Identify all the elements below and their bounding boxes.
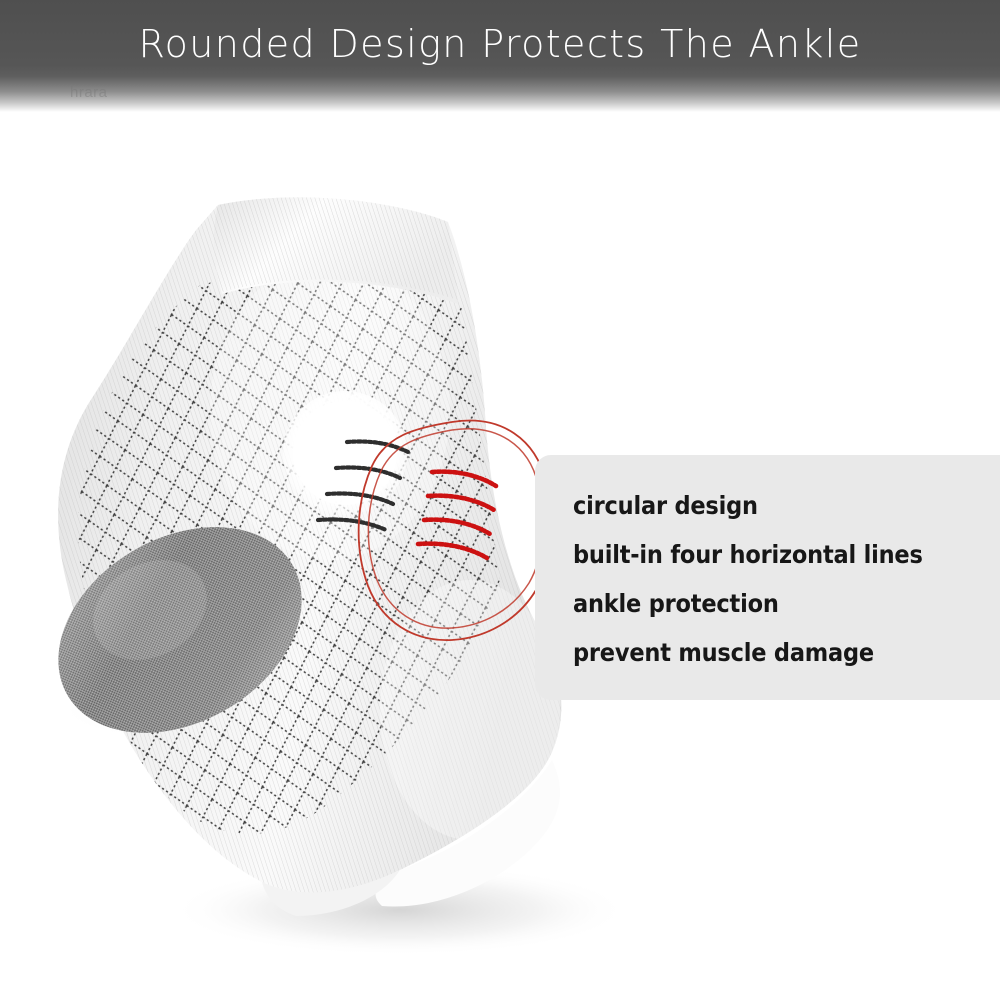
circular-support-zone [283, 391, 407, 515]
feature-callout-box: circular design built-in four horizontal… [535, 455, 1000, 700]
page-title: Rounded Design Protects The Ankle [0, 22, 1000, 66]
feature-item-2: built-in four horizontal lines [573, 530, 1000, 579]
feature-item-4: prevent muscle damage [573, 628, 1000, 677]
feature-list: circular design built-in four horizontal… [573, 481, 1000, 677]
feature-item-1: circular design [573, 481, 1000, 530]
feature-item-3: ankle protection [573, 579, 1000, 628]
header-banner: Rounded Design Protects The Ankle hrara [0, 0, 1000, 112]
watermark-text: hrara [70, 84, 108, 101]
product-image-canvas: Rounded Design Protects The Ankle hrara [0, 0, 1000, 1000]
